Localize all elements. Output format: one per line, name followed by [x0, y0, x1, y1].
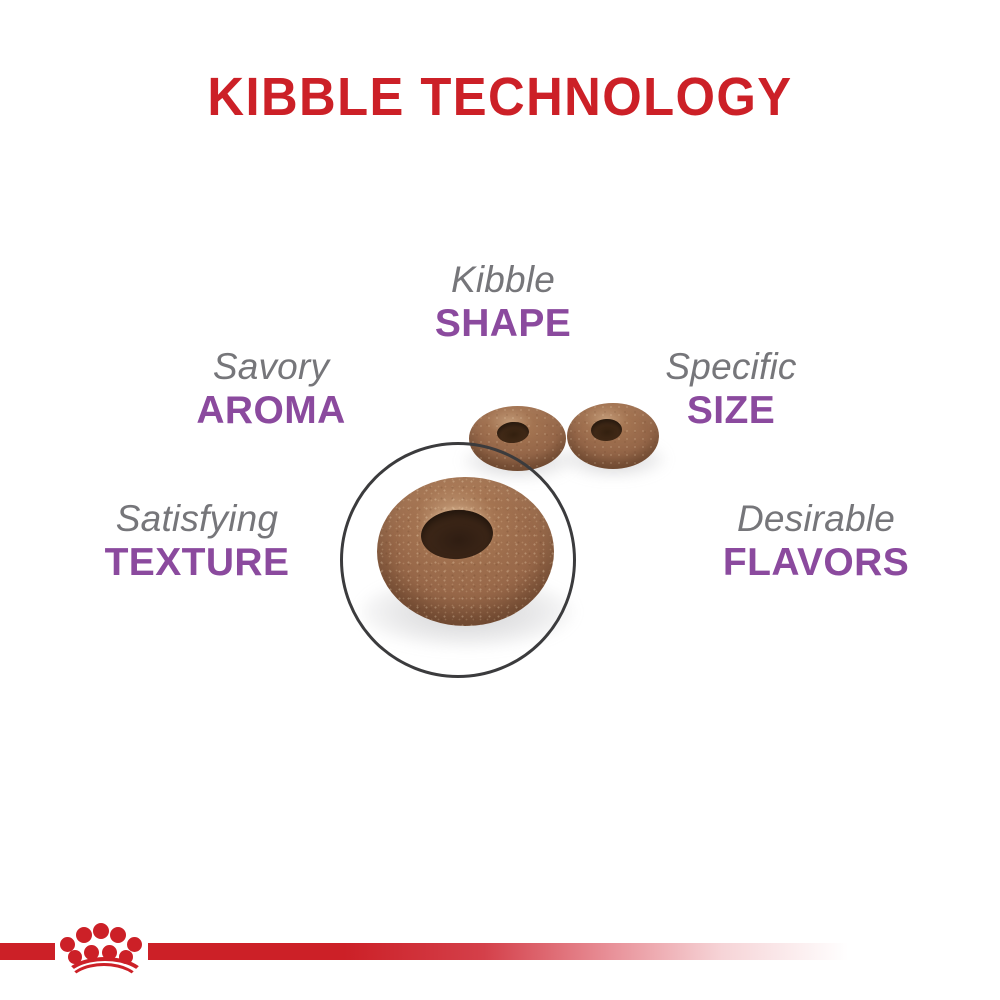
kibble-shadow-large — [360, 575, 574, 649]
feature-adjective: Savory — [196, 345, 345, 388]
feature-adjective: Desirable — [723, 497, 909, 540]
kibble-hole-small-right — [590, 418, 622, 442]
feature-attribute: FLAVORS — [723, 540, 909, 585]
page-title: KIBBLE TECHNOLOGY — [30, 68, 970, 126]
brand-bar-left — [0, 943, 55, 960]
kibble-texture-speckle — [567, 403, 659, 469]
kibble-shadow-small-left — [462, 442, 574, 480]
kibble-hole-large — [419, 508, 494, 562]
kibble-hole-small-left — [496, 421, 530, 445]
kibble-large — [377, 477, 554, 626]
feature-label-texture: Satisfying TEXTURE — [105, 497, 290, 585]
feature-attribute: SIZE — [665, 388, 796, 433]
feature-adjective: Specific — [665, 345, 796, 388]
kibble-small-right — [567, 403, 659, 469]
highlight-circle-outline — [340, 442, 576, 678]
kibble-texture-speckle — [469, 406, 566, 471]
feature-adjective: Satisfying — [105, 497, 290, 540]
feature-attribute: TEXTURE — [105, 540, 290, 585]
kibble-shadow-small-right — [562, 440, 666, 478]
feature-adjective: Kibble — [435, 258, 571, 301]
feature-attribute: SHAPE — [435, 301, 571, 346]
kibble-small-left — [469, 406, 566, 471]
kibble-technology-infographic: KIBBLE TECHNOLOGY Kibble SHAPE Savory AR… — [0, 0, 1000, 1000]
footer-brand-bar — [0, 905, 1000, 1000]
feature-label-flavors: Desirable FLAVORS — [723, 497, 909, 585]
feature-label-aroma: Savory AROMA — [196, 345, 345, 433]
kibble-texture-speckle — [377, 477, 554, 626]
royal-canin-crown-icon — [57, 917, 145, 979]
feature-attribute: AROMA — [196, 388, 345, 433]
feature-label-size: Specific SIZE — [665, 345, 796, 433]
brand-bar-right — [148, 943, 848, 960]
feature-label-shape: Kibble SHAPE — [435, 258, 571, 346]
